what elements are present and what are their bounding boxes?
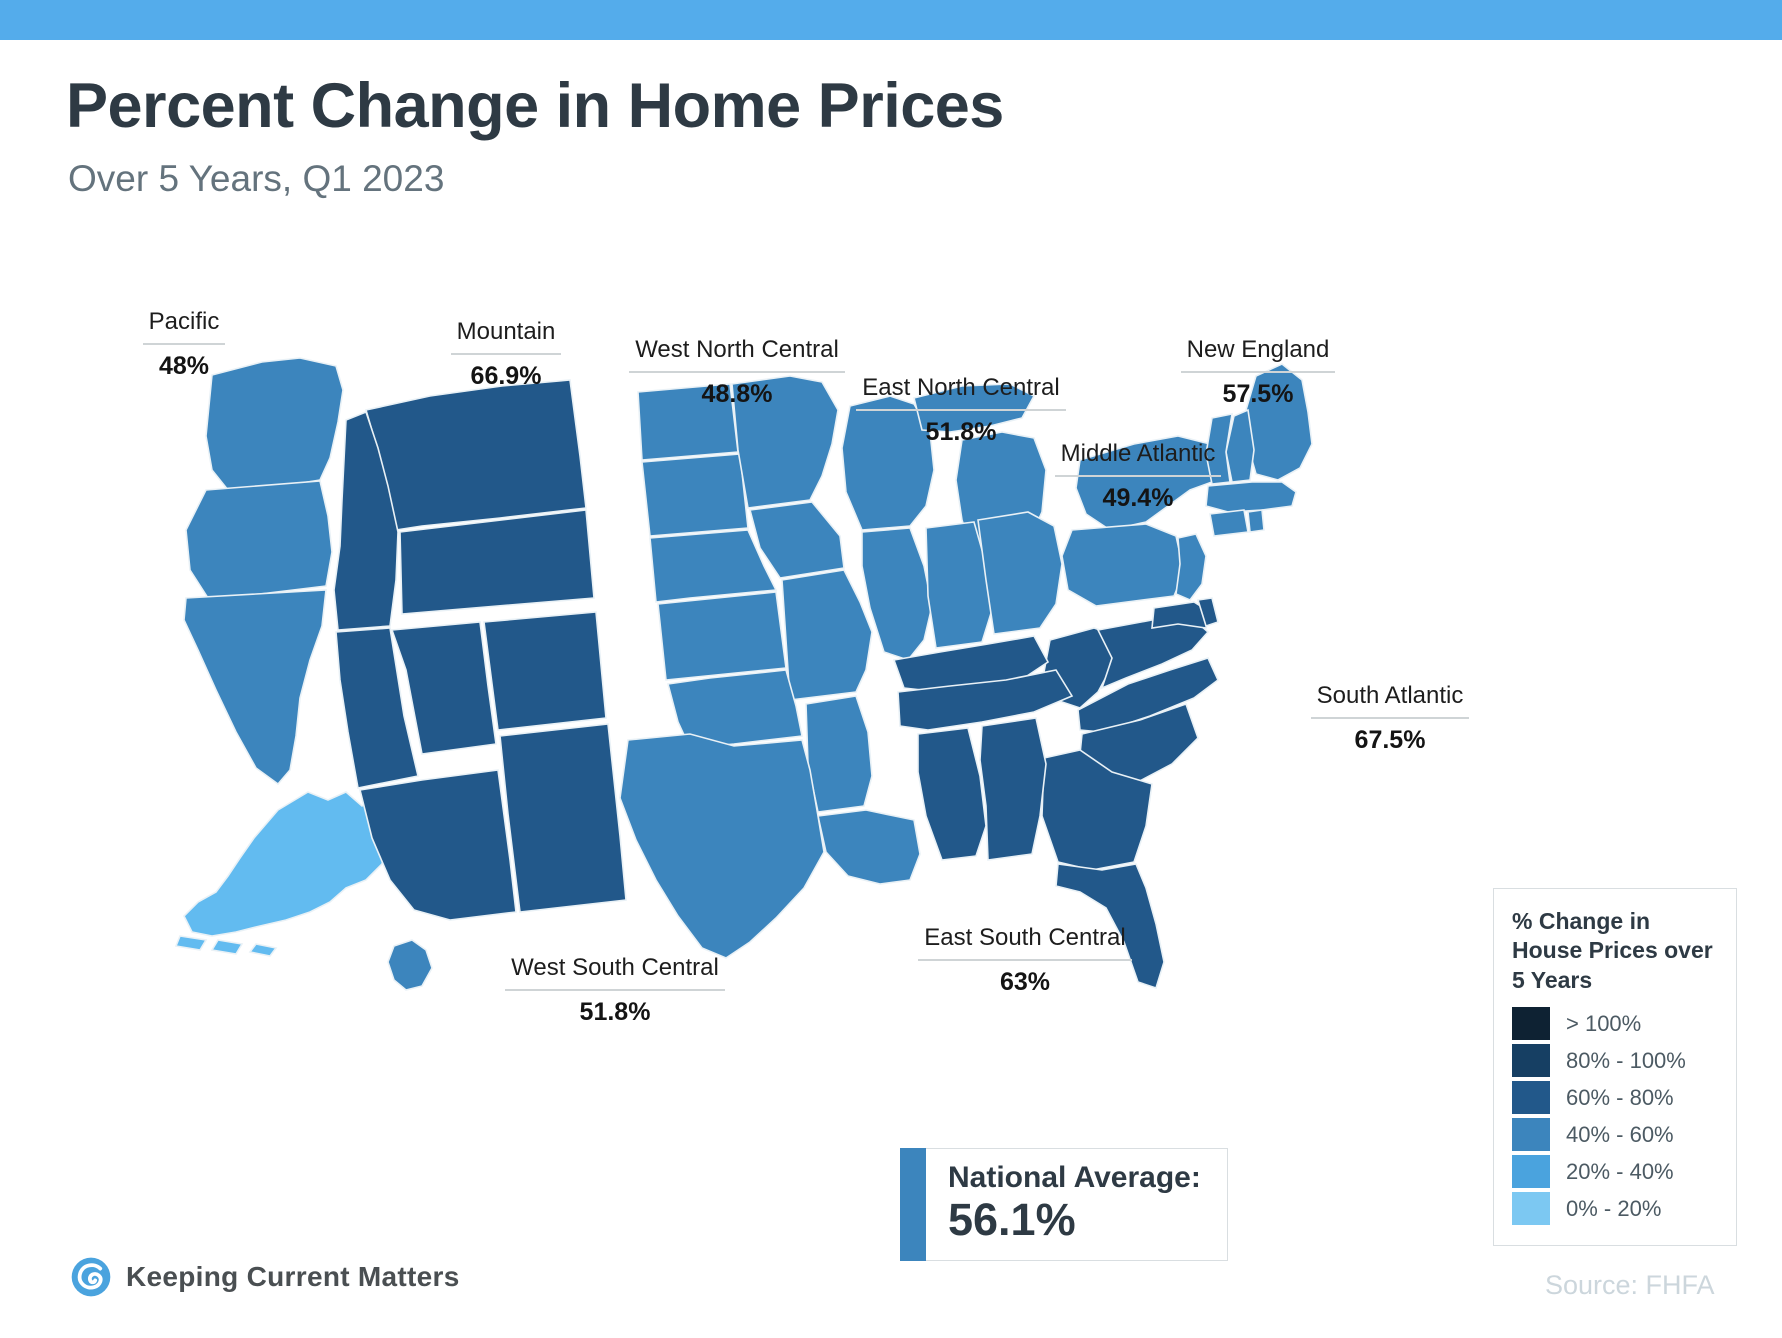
- national-average-content: National Average: 56.1%: [926, 1148, 1228, 1261]
- top-accent-bar: [0, 0, 1782, 40]
- callout-value: 63%: [898, 968, 1152, 997]
- legend-row: 0% - 20%: [1512, 1192, 1720, 1225]
- state-tx: [620, 734, 824, 958]
- legend-label: 60% - 80%: [1566, 1085, 1674, 1111]
- state-ca: [184, 590, 326, 784]
- national-average-box: National Average: 56.1%: [900, 1148, 1228, 1261]
- state-sd: [642, 454, 748, 536]
- callout-label: Middle Atlantic: [1055, 440, 1222, 477]
- callout-value: 49.4%: [1028, 484, 1248, 513]
- callout-label: New England: [1181, 336, 1336, 373]
- callout-south-atlantic: South Atlantic 67.5%: [1280, 682, 1500, 755]
- page-title: Percent Change in Home Prices: [66, 70, 1004, 142]
- state-ak-islands: [176, 936, 276, 956]
- state-ak[interactable]: [184, 792, 388, 936]
- callout-label: Pacific: [143, 308, 226, 345]
- callout-label: East South Central: [918, 924, 1131, 961]
- state-pa: [1062, 524, 1184, 606]
- callout-value: 48.8%: [612, 380, 862, 409]
- legend-label: 0% - 20%: [1566, 1196, 1661, 1222]
- state-mt: [366, 380, 586, 530]
- state-or: [186, 481, 332, 598]
- legend-row: 20% - 40%: [1512, 1155, 1720, 1188]
- callout-label: South Atlantic: [1311, 682, 1470, 719]
- legend-row: 80% - 100%: [1512, 1044, 1720, 1077]
- legend-label: 80% - 100%: [1566, 1048, 1686, 1074]
- state-mo: [782, 570, 872, 700]
- legend-label: 20% - 40%: [1566, 1159, 1674, 1185]
- state-ct: [1210, 510, 1248, 536]
- callout-label: Mountain: [451, 318, 562, 355]
- brand-logo: Keeping Current Matters: [70, 1256, 460, 1298]
- callout-value: 66.9%: [412, 362, 600, 391]
- brand-logo-text: Keeping Current Matters: [126, 1261, 460, 1293]
- callout-value: 67.5%: [1280, 726, 1500, 755]
- legend-swatch: [1512, 1007, 1550, 1040]
- map-region-west-south-central[interactable]: [620, 670, 920, 958]
- state-ms: [918, 728, 986, 860]
- state-hi[interactable]: [388, 940, 432, 990]
- legend-title: % Change in House Prices over 5 Years: [1512, 907, 1720, 995]
- callout-value: 57.5%: [1148, 380, 1368, 409]
- state-nm: [500, 724, 626, 912]
- spiral-logo-icon: [70, 1256, 112, 1298]
- callout-label: East North Central: [856, 374, 1065, 411]
- legend-swatch: [1512, 1118, 1550, 1151]
- legend-swatch: [1512, 1081, 1550, 1114]
- state-az: [360, 770, 516, 920]
- map-region-pacific[interactable]: [184, 358, 343, 784]
- legend-row: 60% - 80%: [1512, 1081, 1720, 1114]
- callout-east-north-central: East North Central 51.8%: [836, 374, 1086, 447]
- state-la: [818, 810, 920, 884]
- callout-new-england: New England 57.5%: [1148, 336, 1368, 409]
- state-nj: [1176, 534, 1206, 600]
- national-average-accent-bar: [900, 1148, 926, 1261]
- callout-west-north-central: West North Central 48.8%: [612, 336, 862, 409]
- callout-value: 51.8%: [488, 998, 742, 1027]
- state-ne: [650, 530, 776, 602]
- callout-west-south-central: West South Central 51.8%: [488, 954, 742, 1027]
- callout-east-south-central: East South Central 63%: [898, 924, 1152, 997]
- state-al: [980, 718, 1046, 860]
- callout-middle-atlantic: Middle Atlantic 49.4%: [1028, 440, 1248, 513]
- legend-label: > 100%: [1566, 1011, 1641, 1037]
- national-average-value: 56.1%: [948, 1194, 1201, 1246]
- legend-swatch: [1512, 1044, 1550, 1077]
- state-il: [862, 528, 932, 660]
- state-co: [484, 612, 606, 730]
- state-ks: [658, 592, 786, 680]
- source-note: Source: FHFA: [1545, 1270, 1715, 1301]
- page-subtitle: Over 5 Years, Q1 2023: [68, 158, 444, 200]
- state-oh: [978, 512, 1062, 634]
- map-legend: % Change in House Prices over 5 Years > …: [1493, 888, 1737, 1246]
- legend-label: 40% - 60%: [1566, 1122, 1674, 1148]
- callout-value: 48%: [100, 352, 268, 381]
- state-ar: [806, 696, 872, 812]
- legend-swatch: [1512, 1192, 1550, 1225]
- callout-mountain: Mountain 66.9%: [412, 318, 600, 391]
- callout-pacific: Pacific 48%: [100, 308, 268, 381]
- legend-row: > 100%: [1512, 1007, 1720, 1040]
- callout-label: West South Central: [505, 954, 725, 991]
- map-region-mountain[interactable]: [334, 380, 626, 920]
- state-ri: [1248, 510, 1264, 532]
- callout-label: West North Central: [629, 336, 845, 373]
- legend-row: 40% - 60%: [1512, 1118, 1720, 1151]
- legend-swatch: [1512, 1155, 1550, 1188]
- national-average-label: National Average:: [948, 1161, 1201, 1194]
